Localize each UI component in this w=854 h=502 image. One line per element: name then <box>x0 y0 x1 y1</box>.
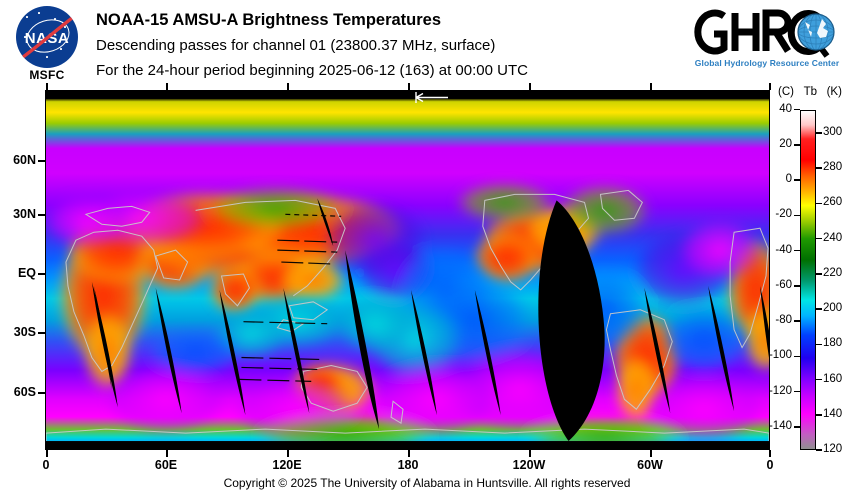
colorbar-tick-c-40 <box>794 109 800 111</box>
lat-tick-60s <box>38 392 45 394</box>
lat-label-60n: 60N <box>0 153 36 167</box>
colorbar-label-k-220: 220 <box>823 267 851 279</box>
lon-label-120w: 120W <box>506 458 552 472</box>
colorbar-label-c-20: 20 <box>766 138 792 150</box>
colorbar-label-c-40: 40 <box>766 103 792 115</box>
map-canvas <box>46 91 769 449</box>
header: NASA MSFC NOAA-15 AMSU-A Brightness Temp… <box>0 0 854 88</box>
lon-tick-180 <box>408 450 410 457</box>
colorbar-tick-k-200 <box>816 308 822 310</box>
lon-tick-0 <box>46 450 48 457</box>
lon-tick-top-360 <box>769 83 771 90</box>
colorbar-tick-c--80 <box>794 320 800 322</box>
nasa-meatball-icon: NASA <box>16 6 78 68</box>
colorbar-tick-k-220 <box>816 273 822 275</box>
nasa-logo: NASA MSFC <box>12 6 82 82</box>
lon-tick-120w <box>529 450 531 457</box>
lon-label-120e: 120E <box>264 458 310 472</box>
ghrc-tag-word-2: Hydrology <box>724 58 767 68</box>
lat-tick-60n <box>38 160 45 162</box>
colorbar-label-k-140: 140 <box>823 408 851 420</box>
lat-tick-eq <box>38 273 45 275</box>
scan-direction-arrow-icon <box>414 92 450 103</box>
colorbar-tick-k-180 <box>816 344 822 346</box>
colorbar-tick-c--120 <box>794 391 800 393</box>
ghrc-tag-word-3: Resource <box>770 58 810 68</box>
ghrc-tag-word-1: Global <box>695 58 722 68</box>
lon-label-0: 0 <box>23 458 69 472</box>
title-block: NOAA-15 AMSU-A Brightness Temperatures D… <box>96 8 528 83</box>
colorbar-label-k-240: 240 <box>823 232 851 244</box>
colorbar-label-k-260: 260 <box>823 196 851 208</box>
lat-label-eq: EQ <box>0 266 36 280</box>
colorbar-label-k-300: 300 <box>823 126 851 138</box>
lon-tick-top-60e <box>166 83 168 90</box>
colorbar-tick-c-0 <box>794 179 800 181</box>
colorbar-label-c--140: -140 <box>766 420 792 432</box>
colorbar-label-c--100: -100 <box>766 349 792 361</box>
lat-tick-30s <box>38 332 45 334</box>
subtitle-channel: Descending passes for channel 01 (23800.… <box>96 33 528 58</box>
colorbar-tick-k-160 <box>816 379 822 381</box>
lon-tick-60e <box>166 450 168 457</box>
colorbar-label-c--20: -20 <box>766 208 792 220</box>
colorbar-tick-k-240 <box>816 238 822 240</box>
lon-tick-top-0 <box>46 83 48 90</box>
ghrc-tag-word-4: Center <box>812 58 840 68</box>
page-title: NOAA-15 AMSU-A Brightness Temperatures <box>96 8 528 33</box>
colorbar-label-c--40: -40 <box>766 244 792 256</box>
colorbar-tick-k-300 <box>816 132 822 134</box>
lat-label-30s: 30S <box>0 325 36 339</box>
ghrc-tagline: Global Hydrology Resource Center <box>694 58 840 68</box>
subtitle-period: For the 24-hour period beginning 2025-06… <box>96 58 528 83</box>
colorbar-label-c-0: 0 <box>766 173 792 185</box>
copyright-notice: Copyright © 2025 The University of Alaba… <box>0 476 854 490</box>
colorbar-tick-c--60 <box>794 285 800 287</box>
colorbar-tick-k-140 <box>816 414 822 416</box>
colorbar-tick-k-260 <box>816 203 822 205</box>
nasa-swoosh-icon <box>16 10 78 66</box>
lon-tick-top-120e <box>287 83 289 90</box>
colorbar-tick-c--40 <box>794 250 800 252</box>
lon-label-60e: 60E <box>143 458 189 472</box>
lon-label-180: 180 <box>385 458 431 472</box>
lon-label-60w: 60W <box>627 458 673 472</box>
colorbar-label-c--120: -120 <box>766 385 792 397</box>
lon-tick-top-180 <box>408 83 410 90</box>
colorbar-tick-c--140 <box>794 426 800 428</box>
colorbar-unit-kelvin: (K) <box>827 86 842 98</box>
colorbar-label-c--80: -80 <box>766 314 792 326</box>
lon-tick-120e <box>287 450 289 457</box>
nasa-center-label: MSFC <box>12 68 82 82</box>
colorbar-gradient[interactable] <box>800 110 816 450</box>
colorbar-tick-k-120 <box>816 449 822 451</box>
colorbar-unit-celsius: (C) <box>778 86 794 98</box>
colorbar-label-k-160: 160 <box>823 373 851 385</box>
colorbar-tick-c-20 <box>794 144 800 146</box>
ghrc-wordmark-icon <box>690 6 840 58</box>
lon-tick-top-120w <box>529 83 531 90</box>
lon-tick-60w <box>650 450 652 457</box>
colorbar-variable: Tb <box>804 86 817 98</box>
lat-label-30n: 30N <box>0 207 36 221</box>
colorbar-header: (C) Tb (K) <box>778 86 842 98</box>
lon-tick-360 <box>769 450 771 457</box>
colorbar-label-k-120: 120 <box>823 443 851 455</box>
colorbar-label-k-280: 280 <box>823 161 851 173</box>
lon-label-360: 0 <box>747 458 793 472</box>
colorbar-label-k-200: 200 <box>823 302 851 314</box>
lat-label-60s: 60S <box>0 385 36 399</box>
brightness-temperature-map[interactable] <box>45 90 770 450</box>
ghrc-logo: Global Hydrology Resource Center <box>690 6 840 78</box>
colorbar-label-c--60: -60 <box>766 279 792 291</box>
colorbar-tick-c--20 <box>794 215 800 217</box>
lon-tick-top-60w <box>650 83 652 90</box>
colorbar-label-k-180: 180 <box>823 337 851 349</box>
colorbar-tick-k-280 <box>816 167 822 169</box>
colorbar-tick-c--100 <box>794 356 800 358</box>
lat-tick-30n <box>38 214 45 216</box>
